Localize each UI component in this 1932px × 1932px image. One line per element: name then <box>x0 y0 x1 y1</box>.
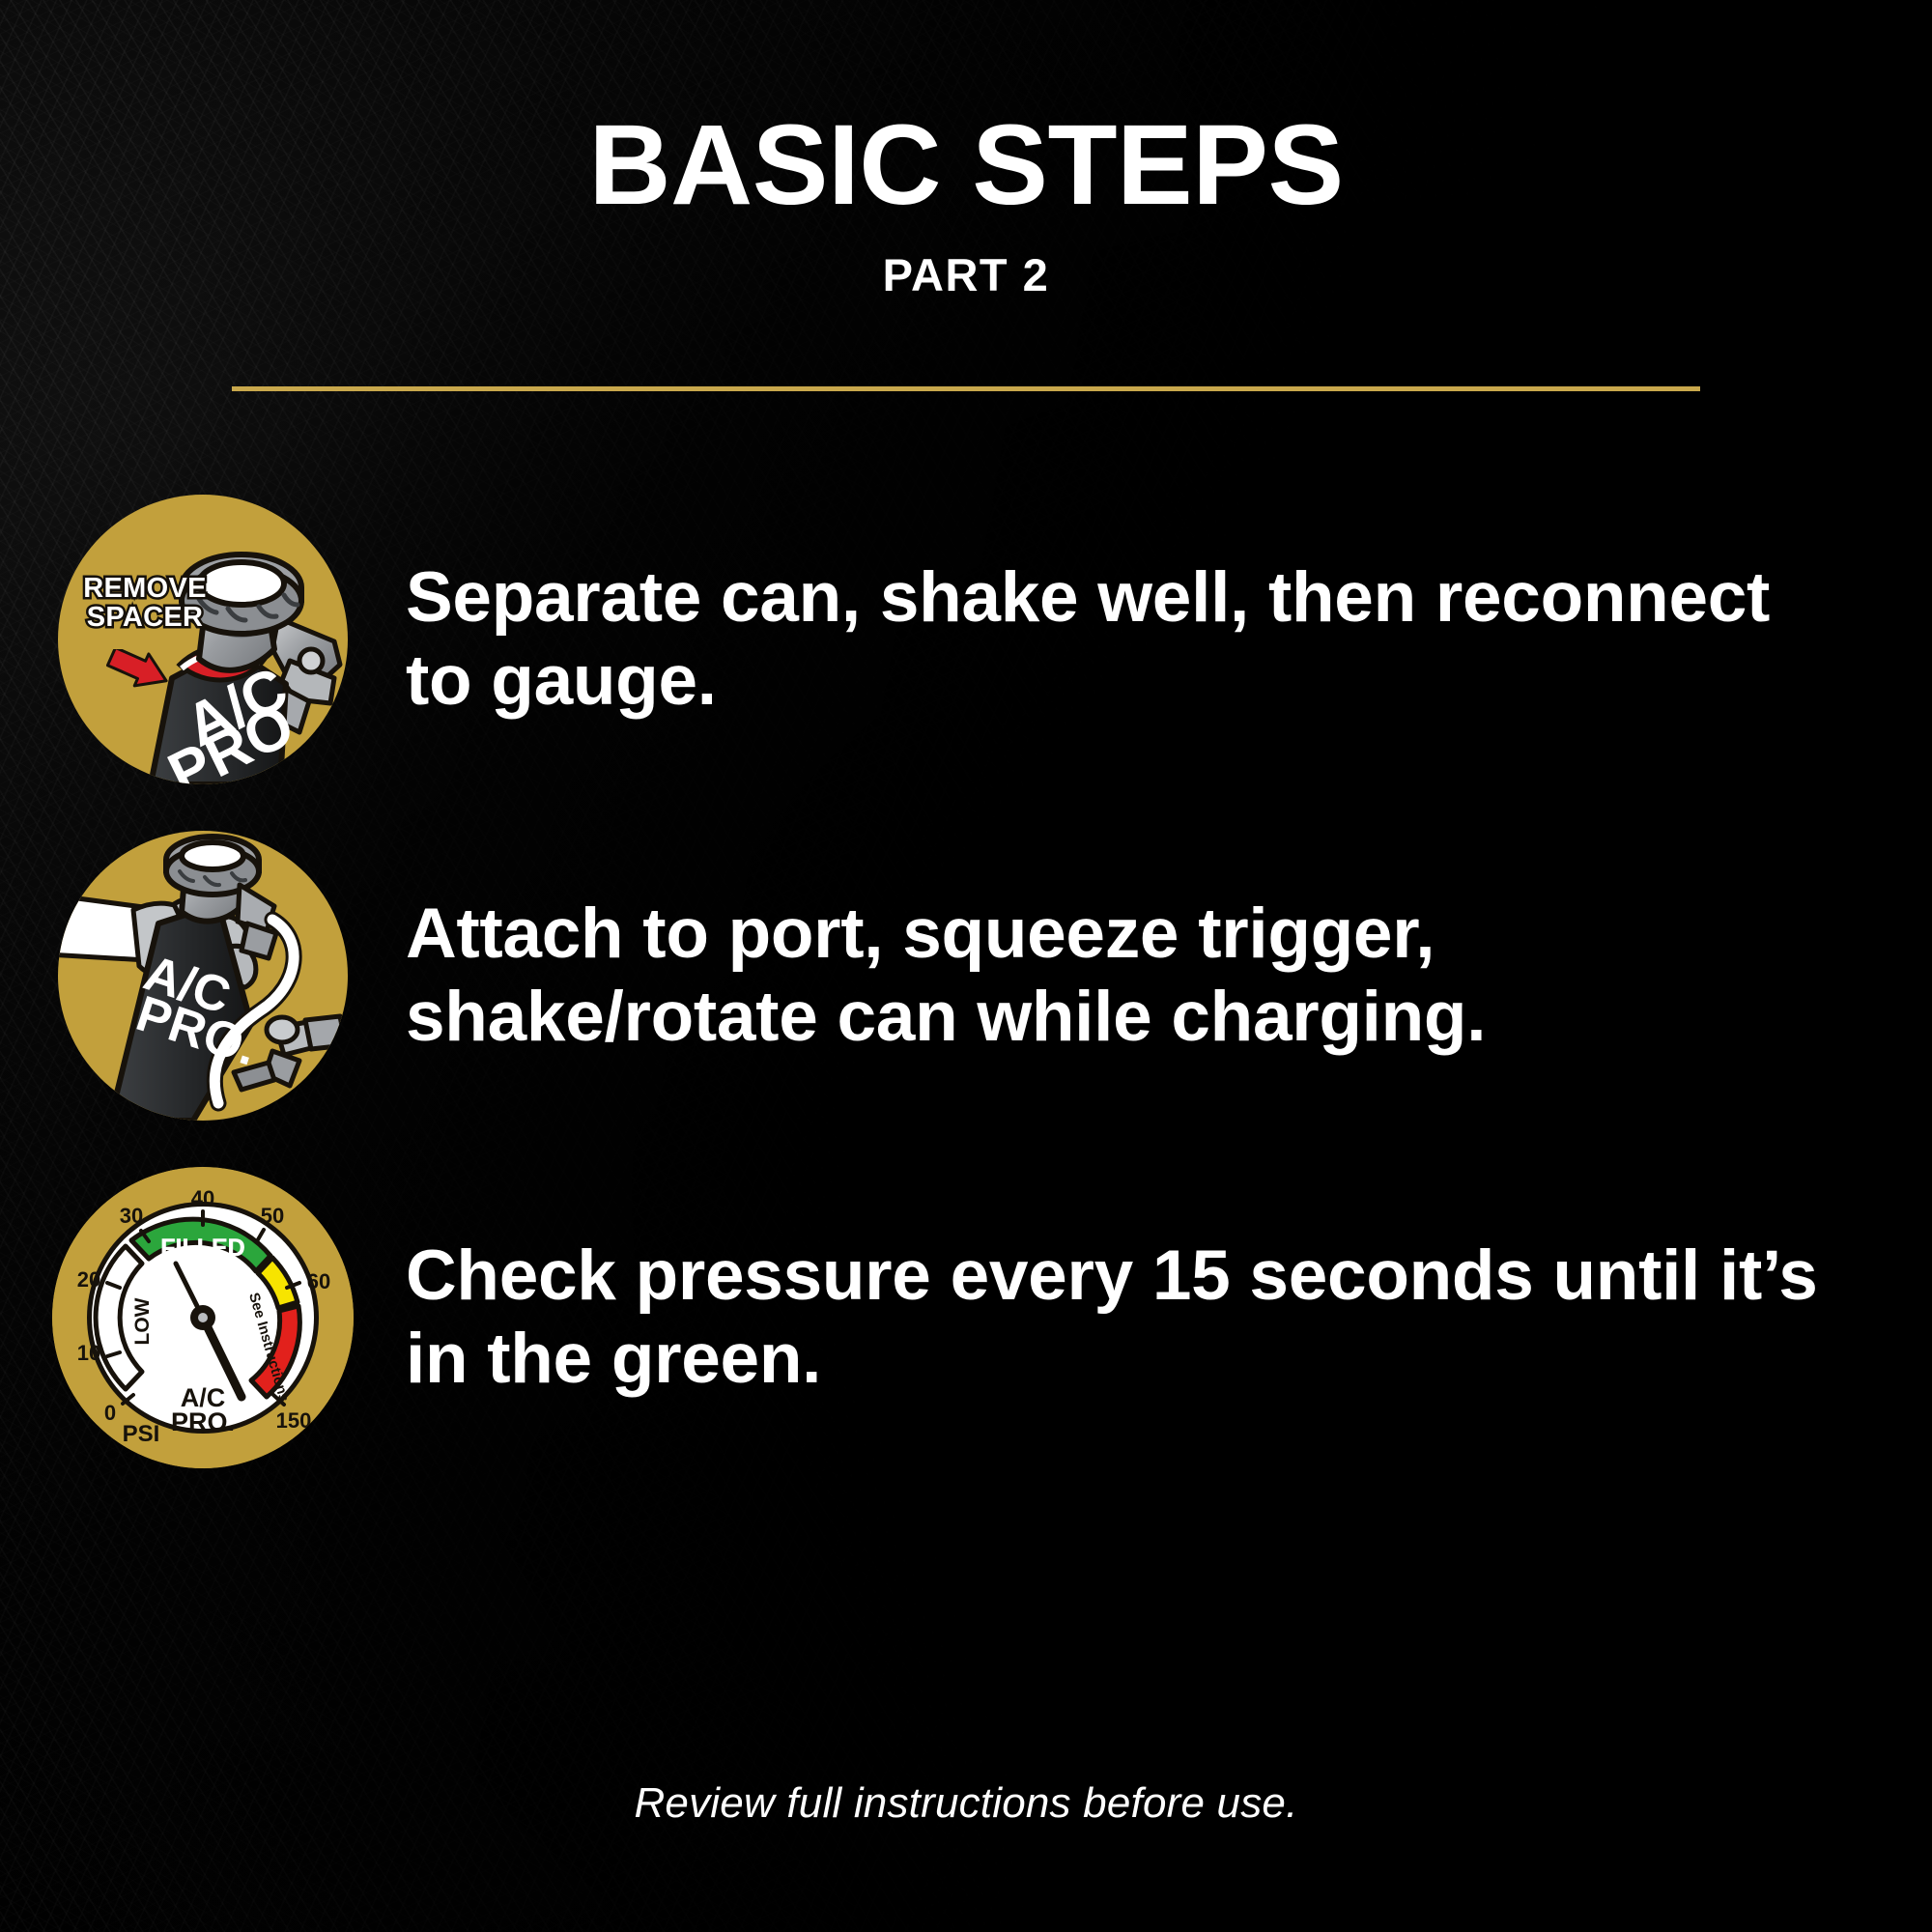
gauge-tick-50: 50 <box>261 1204 284 1228</box>
remove-spacer-label: REMOVE SPACER <box>71 574 218 632</box>
gauge-filled-label: FILLED <box>160 1235 245 1262</box>
step-2: A/C PRO. Attach to port, squeeze trigger… <box>0 831 1932 1121</box>
footer-note: Review full instructions before use. <box>0 1779 1932 1828</box>
gauge-tick-20: 20 <box>77 1267 100 1292</box>
step-3: 0 10 20 30 40 50 60 150 LOW FILLED Se <box>0 1167 1932 1468</box>
footer: Review full instructions before use. <box>0 1779 1932 1828</box>
remove-spacer-line-1: REMOVE <box>71 574 218 603</box>
gauge-unit-label: PSI <box>123 1421 160 1447</box>
gauge-tick-0: 0 <box>104 1401 116 1425</box>
gauge-tick-40: 40 <box>191 1186 214 1210</box>
poster-canvas: BASIC STEPS PART 2 <box>0 0 1932 1932</box>
step-3-text: Check pressure every 15 seconds until it… <box>406 1235 1932 1401</box>
attach-hose-to-port-icon: A/C PRO. <box>58 831 348 1121</box>
gauge-low-label: LOW <box>131 1297 154 1345</box>
pressure-gauge-icon: 0 10 20 30 40 50 60 150 LOW FILLED Se <box>52 1167 354 1468</box>
gauge-tick-150: 150 <box>276 1408 312 1433</box>
step-3-icon-wrap: 0 10 20 30 40 50 60 150 LOW FILLED Se <box>0 1167 406 1468</box>
gauge-tick-30: 30 <box>120 1204 143 1228</box>
step-1-icon-wrap: A/C PRO REMOVE SPACER <box>0 495 406 784</box>
step-2-icon-wrap: A/C PRO. <box>0 831 406 1121</box>
remove-spacer-line-2: SPACER <box>71 603 218 632</box>
step-1-text: Separate can, shake well, then reconnect… <box>406 556 1932 723</box>
header: BASIC STEPS PART 2 <box>0 0 1932 301</box>
gauge-tick-60: 60 <box>307 1269 330 1293</box>
step-2-text: Attach to port, squeeze trigger, shake/r… <box>406 893 1932 1059</box>
red-arrow-icon <box>106 649 170 692</box>
steps-list: A/C PRO REMOVE SPACER Separate can, shak… <box>0 495 1932 1515</box>
gold-divider <box>232 386 1700 391</box>
page-subtitle: PART 2 <box>0 248 1932 301</box>
gauge-brand-line2: PRO. <box>171 1407 235 1436</box>
step-1: A/C PRO REMOVE SPACER Separate can, shak… <box>0 495 1932 784</box>
page-title: BASIC STEPS <box>0 108 1932 222</box>
gauge-tick-10: 10 <box>77 1341 100 1365</box>
remove-spacer-can-icon: A/C PRO REMOVE SPACER <box>58 495 348 784</box>
